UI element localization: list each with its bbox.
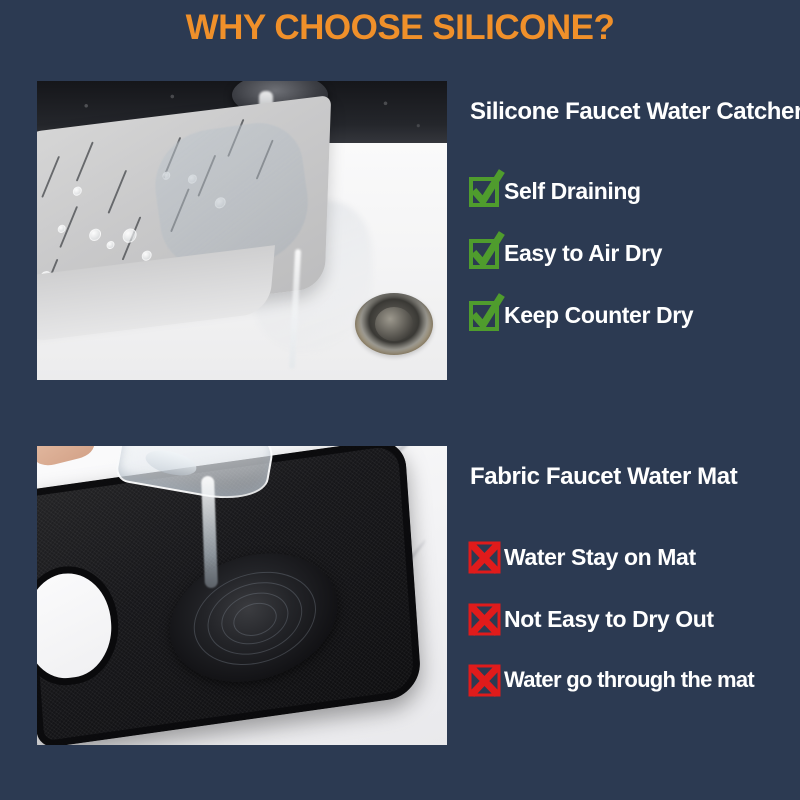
infographic-page: WHY CHOOSE SILICONE? — [0, 0, 800, 800]
sink-drain — [355, 293, 433, 355]
check-icon — [470, 238, 500, 268]
page-title: WHY CHOOSE SILICONE? — [0, 8, 800, 48]
feature-label: Keep Counter Dry — [504, 302, 693, 329]
section-heading-silicone: Silicone Faucet Water Catcher — [470, 98, 800, 126]
silicone-product-photo — [37, 81, 447, 380]
fabric-product-photo — [37, 446, 447, 745]
check-icon — [470, 300, 500, 330]
feature-label: Not Easy to Dry Out — [504, 606, 714, 633]
feature-label: Water Stay on Mat — [504, 544, 696, 571]
section-heading-fabric: Fabric Faucet Water Mat — [470, 463, 737, 491]
feature-easy-to-air-dry: Easy to Air Dry — [470, 238, 662, 268]
cross-icon — [470, 604, 500, 634]
feature-keep-counter-dry: Keep Counter Dry — [470, 300, 693, 330]
feature-label: Easy to Air Dry — [504, 240, 662, 267]
feature-label: Water go through the mat — [504, 667, 754, 693]
feature-label: Self Draining — [504, 178, 641, 205]
feature-water-stay-on-mat: Water Stay on Mat — [470, 542, 696, 572]
cross-icon — [470, 665, 500, 695]
check-icon — [470, 176, 500, 206]
feature-self-draining: Self Draining — [470, 176, 641, 206]
feature-water-go-through-the-mat: Water go through the mat — [470, 665, 754, 695]
feature-not-easy-to-dry-out: Not Easy to Dry Out — [470, 604, 714, 634]
cross-icon — [470, 542, 500, 572]
